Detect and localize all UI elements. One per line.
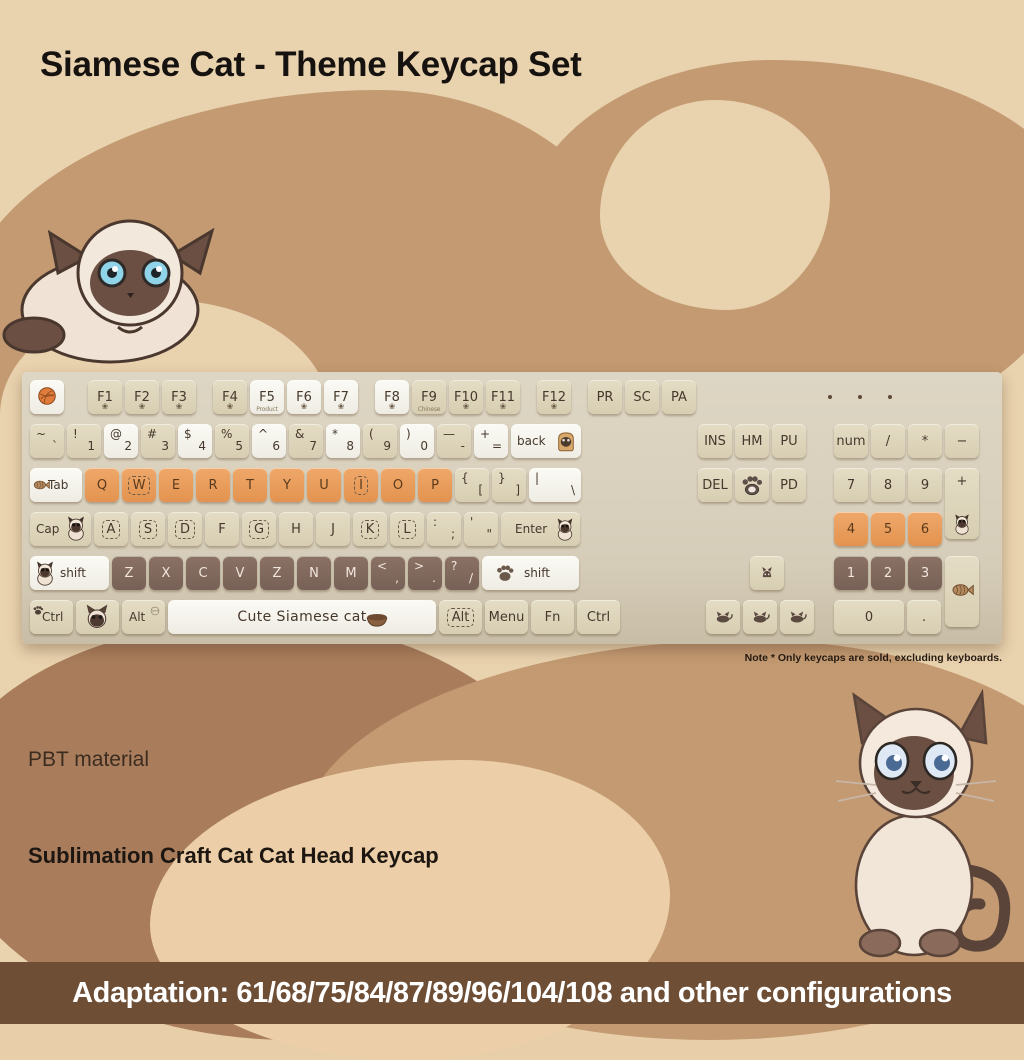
key-shift[interactable]: shift <box>30 556 109 590</box>
key-key[interactable]: <, <box>371 556 405 590</box>
key-0[interactable]: 0 <box>834 600 904 634</box>
key-key[interactable]: ?/ <box>445 556 479 590</box>
key-yarn-ball-icon[interactable] <box>30 380 64 414</box>
key-legend: F5 <box>259 390 275 405</box>
key-cat-left-icon[interactable] <box>706 600 740 634</box>
key-p[interactable]: P <box>418 468 452 502</box>
key-legend: INS <box>704 434 726 449</box>
key-legend: 7 <box>847 478 855 493</box>
key-legend: A <box>102 520 121 539</box>
key-legend: 4 <box>847 522 855 537</box>
key-z[interactable]: Z <box>112 556 146 590</box>
key-key[interactable]: / <box>871 424 905 458</box>
key-legend: * <box>922 434 929 449</box>
key-legend: J <box>331 522 335 537</box>
key-legend-base: = <box>480 440 502 453</box>
siamese-cat-illustration-top <box>0 215 250 365</box>
key-f[interactable]: F <box>205 512 239 546</box>
key-fish-enter-icon[interactable] <box>945 556 979 627</box>
key-cute-siamese-cat[interactable]: Cute Siamese cat <box>168 600 436 634</box>
key-key[interactable]: ~` <box>30 424 64 458</box>
key-f11[interactable]: F11❀ <box>486 380 520 414</box>
keyboard-row-qwerty: TabQWERTYUIOP{[}]|\ <box>30 468 584 502</box>
paw-icon: ❀ <box>338 403 345 411</box>
key-back[interactable]: back <box>511 424 581 458</box>
key-5[interactable]: 5 <box>871 512 905 546</box>
keyboard-row-function: F1❀F2❀F3❀F4❀F5ProductF6❀F7❀F8❀F9ChineseF… <box>30 380 699 414</box>
key-4[interactable]: 4 <box>834 512 868 546</box>
key-q[interactable]: Q <box>85 468 119 502</box>
paw-icon: ❀ <box>551 403 558 411</box>
key-f4[interactable]: F4❀ <box>213 380 247 414</box>
key-legend: P <box>431 478 439 493</box>
key-legend-base: 3 <box>147 440 169 453</box>
key-legend-base: 9 <box>369 440 391 453</box>
led-indicator <box>888 395 892 399</box>
cat-book-icon <box>553 517 577 541</box>
key-key[interactable]: * <box>908 424 942 458</box>
key-y[interactable]: Y <box>270 468 304 502</box>
key-1[interactable]: 1 <box>834 556 868 590</box>
key-legend-base: 5 <box>221 440 243 453</box>
key-8[interactable]: 8 <box>871 468 905 502</box>
adaptation-banner-text: Adaptation: 61/68/75/84/87/89/96/104/108… <box>72 977 952 1010</box>
key-pd[interactable]: PD <box>772 468 806 502</box>
keyboard-row-shift: shiftZXCVZNM<,>.?/shift <box>30 556 582 590</box>
paw-icon: ❀ <box>176 403 183 411</box>
key-legend-base: [ <box>461 484 483 497</box>
key-legend: Q <box>97 478 107 493</box>
key-ins[interactable]: INS <box>698 424 732 458</box>
key-1[interactable]: !1 <box>67 424 101 458</box>
product-image: Siamese Cat - Theme Keycap Set F1❀F2❀F3❀… <box>0 0 1024 1024</box>
siamese-cat-icon <box>63 515 89 541</box>
key-key[interactable]: + <box>945 468 979 539</box>
key-3[interactable]: #3 <box>141 424 175 458</box>
keyboard-nav-cluster-top: INSHMPU <box>698 424 809 458</box>
arrow-keys <box>706 600 817 634</box>
key-legend: Alt <box>447 608 475 627</box>
key-f2[interactable]: F2❀ <box>125 380 159 414</box>
key-f6[interactable]: F6❀ <box>287 380 321 414</box>
key-legend: Cap <box>36 522 59 536</box>
key-legend: Fn <box>545 610 561 625</box>
key-legend: N <box>309 566 319 581</box>
key-legend: W <box>128 476 151 495</box>
key-legend: SC <box>633 390 650 405</box>
key-legend-base: 4 <box>184 440 206 453</box>
key-legend: DEL <box>702 478 727 493</box>
key-5[interactable]: %5 <box>215 424 249 458</box>
key-alt[interactable]: Alt <box>122 600 165 634</box>
key-legend-base: 7 <box>295 440 317 453</box>
feature-craft: Sublimation Craft Cat Cat Head Keycap <box>28 843 439 869</box>
paw-icon: ❀ <box>301 403 308 411</box>
key-legend: shift <box>524 566 550 580</box>
paw-icon: ❀ <box>227 403 234 411</box>
key-f12[interactable]: F12❀ <box>537 380 571 414</box>
key-legend: M <box>345 566 356 581</box>
cat-graduate-icon <box>32 560 58 586</box>
yarn-small-icon <box>148 604 162 618</box>
key-legend: Cute Siamese cat <box>237 609 366 625</box>
key-key[interactable]: |\ <box>529 468 581 502</box>
paw-icon: ❀ <box>463 403 470 411</box>
key-4[interactable]: $4 <box>178 424 212 458</box>
key-hm[interactable]: HM <box>735 424 769 458</box>
fish-enter-icon <box>950 578 974 602</box>
key-menu[interactable]: Menu <box>485 600 528 634</box>
key-key[interactable]: :; <box>427 512 461 546</box>
cat-down-icon <box>749 606 771 628</box>
keyboard-row-bottom: CtrlAltCute Siamese catAltMenuFnCtrl <box>30 600 623 634</box>
key-i[interactable]: I <box>344 468 378 502</box>
key-legend-base: 2 <box>110 440 132 453</box>
key-legend: Z <box>273 566 282 581</box>
key-7[interactable]: 7 <box>834 468 868 502</box>
key-legend-base: 6 <box>258 440 280 453</box>
key-legend-base: . <box>414 572 436 585</box>
key-legend-base: 0 <box>406 440 428 453</box>
key-legend: Y <box>283 478 291 493</box>
key-legend-base: 8 <box>332 440 354 453</box>
key-cap[interactable]: Cap <box>30 512 91 546</box>
key-t[interactable]: T <box>233 468 267 502</box>
key-alt[interactable]: Alt <box>439 600 482 634</box>
numpad-row-1: num/*− <box>834 424 982 458</box>
key-f5[interactable]: F5Product <box>250 380 284 414</box>
key-legend: 1 <box>847 566 855 581</box>
key-0[interactable]: )0 <box>400 424 434 458</box>
led-indicators <box>828 395 892 399</box>
cat-left-icon <box>712 606 734 628</box>
key-legend-base: - <box>443 440 465 453</box>
key-legend: D <box>175 520 195 539</box>
key-legend: 0 <box>865 610 873 625</box>
key-n[interactable]: N <box>297 556 331 590</box>
key-legend: U <box>319 478 329 493</box>
key-sc[interactable]: SC <box>625 380 659 414</box>
led-indicator <box>858 395 862 399</box>
key-key[interactable]: —- <box>437 424 471 458</box>
key-w[interactable]: W <box>122 468 156 502</box>
key-legend: Enter <box>515 522 547 536</box>
key-v[interactable]: V <box>223 556 257 590</box>
key-ctrl[interactable]: Ctrl <box>30 600 73 634</box>
key-sublabel: Chinese <box>412 406 446 413</box>
key-ctrl[interactable]: Ctrl <box>577 600 620 634</box>
key-7[interactable]: &7 <box>289 424 323 458</box>
page-title: Siamese Cat - Theme Keycap Set <box>40 45 582 85</box>
key-legend: H <box>291 522 301 537</box>
key-legend: E <box>172 478 180 493</box>
key-e[interactable]: E <box>159 468 193 502</box>
key-legend: F <box>218 522 225 537</box>
key-del[interactable]: DEL <box>698 468 732 502</box>
key-legend: 9 <box>921 478 929 493</box>
key-o[interactable]: O <box>381 468 415 502</box>
key-pr[interactable]: PR <box>588 380 622 414</box>
keyboard-nav-cluster-bottom: DELPD <box>698 468 809 502</box>
key-legend-base: ; <box>433 528 455 541</box>
key-key[interactable]: − <box>945 424 979 458</box>
key-legend: . <box>922 610 926 625</box>
cat-up-icon <box>756 562 778 584</box>
key-9[interactable]: (9 <box>363 424 397 458</box>
key-enter[interactable]: Enter <box>501 512 580 546</box>
key-legend: Z <box>125 566 134 581</box>
key-legend-base: ] <box>498 484 520 497</box>
key-legend: G <box>249 520 269 539</box>
paw-icon: ❀ <box>500 403 507 411</box>
key-cat-up-icon[interactable] <box>750 556 784 590</box>
key-legend-base: \ <box>535 484 575 497</box>
numpad-row-3: 456 <box>834 512 945 546</box>
camo-blob <box>600 100 830 310</box>
key-legend: − <box>957 434 968 449</box>
yarn-ball-icon <box>35 384 59 408</box>
key-f7[interactable]: F7❀ <box>324 380 358 414</box>
key-6[interactable]: ^6 <box>252 424 286 458</box>
key-r[interactable]: R <box>196 468 230 502</box>
keyboard-row-home: CapASDFGHJKL:;'"Enter <box>30 512 583 546</box>
paw-pad-icon <box>740 473 764 497</box>
key-l[interactable]: L <box>390 512 424 546</box>
key-m[interactable]: M <box>334 556 368 590</box>
key-cat-face-icon[interactable] <box>76 600 119 634</box>
key-legend: Ctrl <box>587 610 610 625</box>
key-legend-base: 1 <box>73 440 95 453</box>
key-key[interactable]: '" <box>464 512 498 546</box>
key-fn[interactable]: Fn <box>531 600 574 634</box>
key-legend: R <box>208 478 217 493</box>
key-shift[interactable]: shift <box>482 556 579 590</box>
cat-bowl-icon <box>364 605 390 631</box>
key-key[interactable]: >. <box>408 556 442 590</box>
key-legend-base: , <box>377 572 399 585</box>
key-u[interactable]: U <box>307 468 341 502</box>
key-cat-right-icon[interactable] <box>780 600 814 634</box>
key-h[interactable]: H <box>279 512 313 546</box>
key-legend: back <box>517 434 546 448</box>
key-key[interactable]: . <box>907 600 941 634</box>
key-legend: PD <box>780 478 798 493</box>
key-tab[interactable]: Tab <box>30 468 82 502</box>
key-3[interactable]: 3 <box>908 556 942 590</box>
key-9[interactable]: 9 <box>908 468 942 502</box>
key-f8[interactable]: F8❀ <box>375 380 409 414</box>
key-legend: K <box>361 520 380 539</box>
paw-icon: ❀ <box>139 403 146 411</box>
key-x[interactable]: X <box>149 556 183 590</box>
key-c[interactable]: C <box>186 556 220 590</box>
paw-icon: ❀ <box>102 403 109 411</box>
cat-right-icon <box>786 606 808 628</box>
key-legend: V <box>236 566 245 581</box>
key-legend: Ctrl <box>42 610 63 624</box>
key-key[interactable]: }] <box>492 468 526 502</box>
key-legend-base: " <box>470 528 492 541</box>
key-legend: num <box>836 434 865 449</box>
key-f9[interactable]: F9Chinese <box>412 380 446 414</box>
key-legend: 8 <box>884 478 892 493</box>
key-8[interactable]: *8 <box>326 424 360 458</box>
key-legend: O <box>393 478 403 493</box>
key-legend: 6 <box>921 522 929 537</box>
led-indicator <box>828 395 832 399</box>
key-legend-shifted: | <box>535 472 575 484</box>
key-legend-base: ` <box>36 440 58 453</box>
key-key[interactable]: += <box>474 424 508 458</box>
key-key[interactable]: {[ <box>455 468 489 502</box>
numpad-row-5: 0. <box>834 600 944 634</box>
key-legend: S <box>139 520 157 539</box>
key-legend: X <box>162 566 171 581</box>
key-num[interactable]: num <box>834 424 868 458</box>
key-2[interactable]: 2 <box>871 556 905 590</box>
key-a[interactable]: A <box>94 512 128 546</box>
key-sublabel: Product <box>250 406 284 413</box>
key-legend: PU <box>780 434 797 449</box>
siamese-cat-illustration-main <box>818 685 1018 965</box>
key-legend: I <box>354 476 368 495</box>
key-legend: Tab <box>48 478 68 492</box>
key-cat-down-icon[interactable] <box>743 600 777 634</box>
key-2[interactable]: @2 <box>104 424 138 458</box>
key-j[interactable]: J <box>316 512 350 546</box>
keyboard-row-number: ~`!1@2#3$4%5^6&7*8(9)0—-+=back <box>30 424 584 458</box>
paw-icon: ❀ <box>389 403 396 411</box>
key-legend: C <box>198 566 207 581</box>
key-pu[interactable]: PU <box>772 424 806 458</box>
key-legend: F9 <box>421 390 437 405</box>
cat-face-icon <box>83 603 111 631</box>
key-legend: 2 <box>884 566 892 581</box>
key-d[interactable]: D <box>168 512 202 546</box>
key-legend: / <box>886 434 890 449</box>
key-legend: Alt <box>129 610 145 624</box>
key-paw-pad-icon[interactable] <box>735 468 769 502</box>
key-legend: L <box>398 520 415 539</box>
cat-sit-icon <box>951 513 973 535</box>
key-legend: 3 <box>921 566 929 581</box>
key-f1[interactable]: F1❀ <box>88 380 122 414</box>
disclaimer-note: Note * Only keycaps are sold, excluding … <box>745 652 1002 664</box>
key-z[interactable]: Z <box>260 556 294 590</box>
cat-toast-icon <box>553 428 579 454</box>
key-f3[interactable]: F3❀ <box>162 380 196 414</box>
feature-material: PBT material <box>28 748 149 772</box>
key-legend-base: / <box>451 572 473 585</box>
adaptation-banner: Adaptation: 61/68/75/84/87/89/96/104/108… <box>0 962 1024 1024</box>
arrow-up-group <box>750 556 787 590</box>
key-legend: PA <box>671 390 687 405</box>
key-legend: PR <box>597 390 614 405</box>
key-6[interactable]: 6 <box>908 512 942 546</box>
key-g[interactable]: G <box>242 512 276 546</box>
key-legend: + <box>957 474 968 489</box>
keyboard: F1❀F2❀F3❀F4❀F5ProductF6❀F7❀F8❀F9ChineseF… <box>22 372 1002 644</box>
key-s[interactable]: S <box>131 512 165 546</box>
key-legend: shift <box>60 566 86 580</box>
key-pa[interactable]: PA <box>662 380 696 414</box>
key-f10[interactable]: F10❀ <box>449 380 483 414</box>
key-legend: 5 <box>884 522 892 537</box>
key-legend: T <box>246 478 254 493</box>
key-legend: Menu <box>489 610 525 625</box>
key-k[interactable]: K <box>353 512 387 546</box>
key-legend: HM <box>742 434 763 449</box>
paw-icon <box>494 562 516 584</box>
